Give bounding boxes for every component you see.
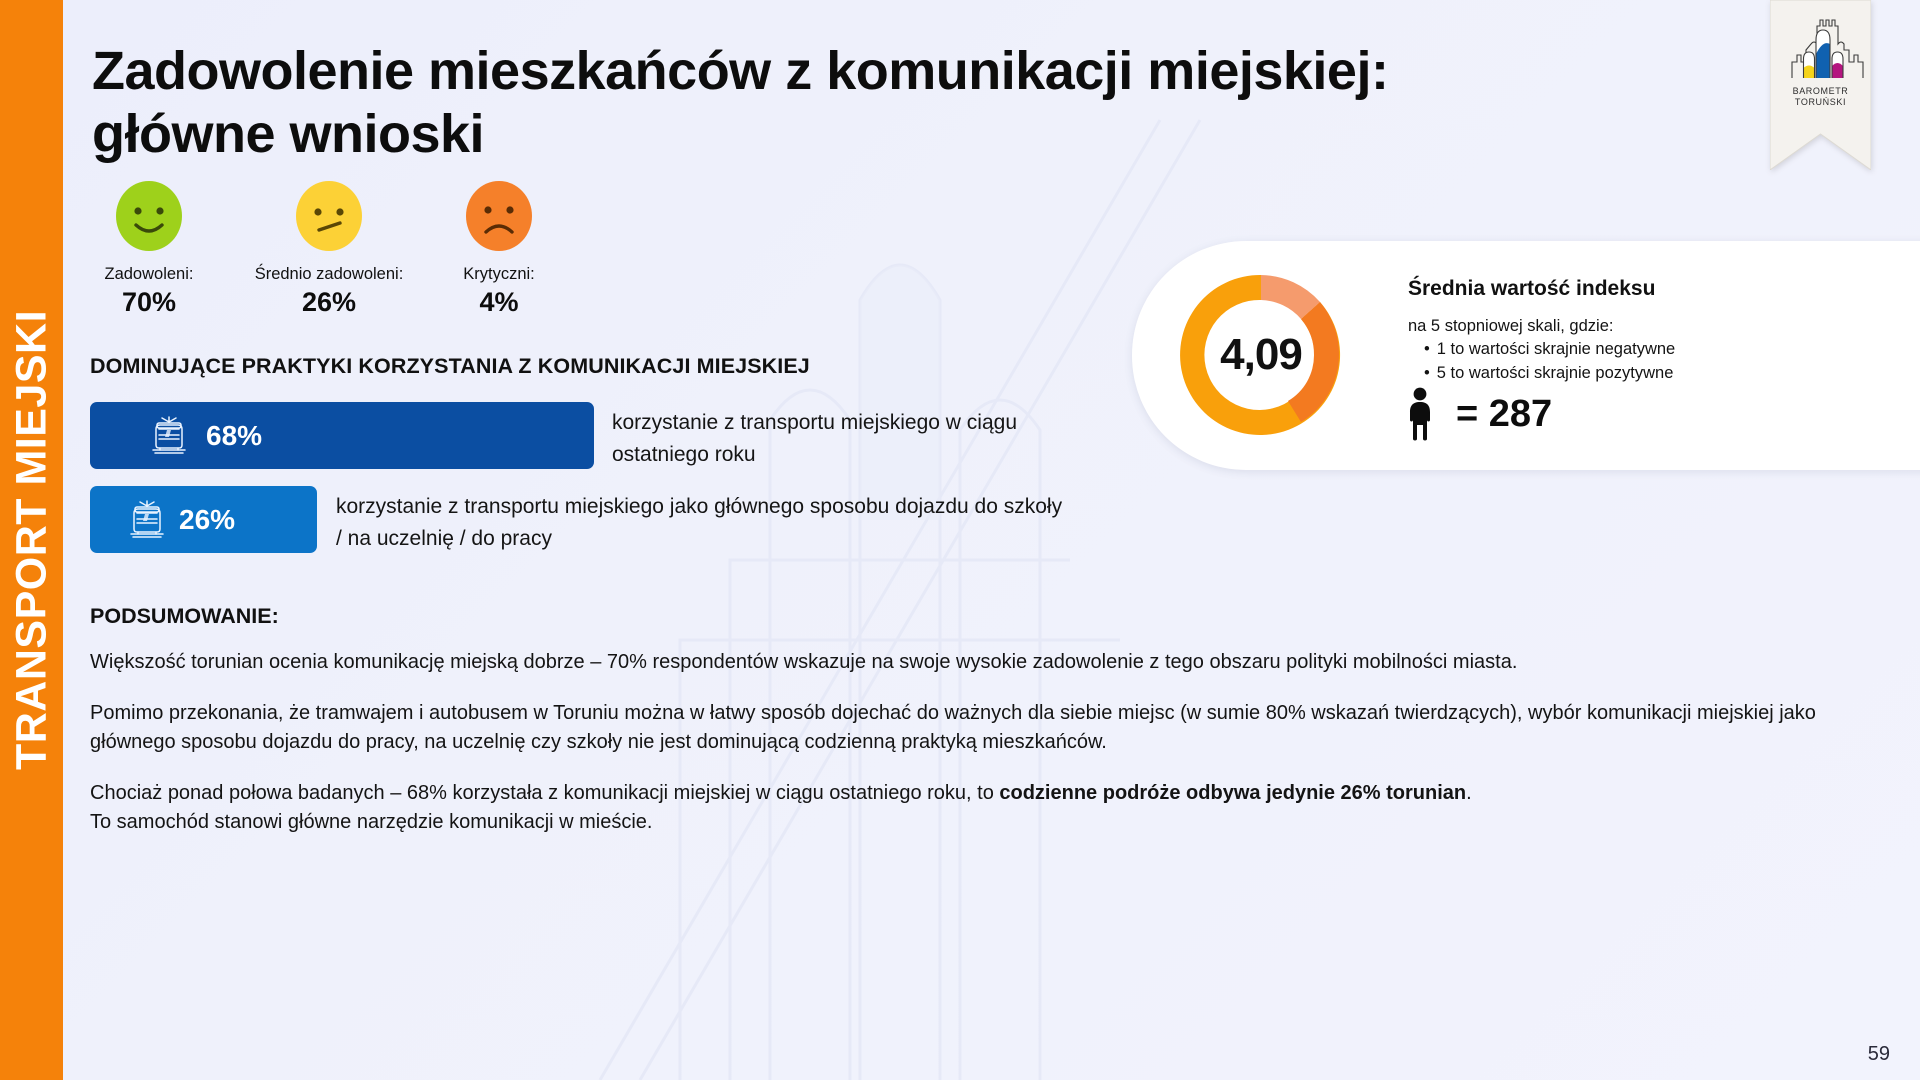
sample-size-value: = 287 [1456,393,1552,436]
practices-heading: DOMINUJĄCE PRAKTYKI KORZYSTANIA Z KOMUNI… [90,354,810,379]
logo-line-1: BAROMETR [1793,86,1849,96]
practice-percent: 26% [179,504,235,536]
summary-p3-part2: . [1466,782,1472,804]
practice-bar-68: 68% [90,402,594,469]
index-card: 4,09 Średnia wartość indeksu na 5 stopni… [1132,241,1920,470]
index-card-title: Średnia wartość indeksu [1408,277,1655,301]
satisfaction-label: Krytyczni: [399,264,599,285]
summary-p3-part1: Chociaż ponad połowa badanych – 68% korz… [90,782,999,804]
summary-paragraph-1: Większość torunian ocenia komunikację mi… [90,648,1850,677]
summary-paragraph-3: Chociaż ponad połowa badanych – 68% korz… [90,779,1850,837]
barometr-torunski-logo: BAROMETR TORUŃSKI [1770,0,1871,170]
logo-line-2: TORUŃSKI [1795,97,1846,107]
summary-body: Większość torunian ocenia komunikację mi… [90,648,1850,859]
index-card-scale: na 5 stopniowej skali, gdzie: 1 to warto… [1408,315,1675,385]
scale-point-2: 5 to wartości skrajnie pozytywne [1424,362,1675,385]
page-number: 59 [1868,1043,1890,1066]
scale-intro: na 5 stopniowej skali, gdzie: [1408,315,1675,338]
satisfaction-value: 70% [49,287,249,318]
satisfaction-label: Zadowoleni: [49,264,249,285]
summary-paragraph-2: Pomimo przekonania, że tramwajem i autob… [90,699,1850,757]
practice-note: korzystanie z transportu miejskiego jako… [336,491,1356,554]
sad-face-icon [465,180,533,252]
neutral-face-icon [295,180,363,252]
sidebar-rail-label: TRANSPORT MIEJSKI [7,310,56,770]
scale-point-1: 1 to wartości skrajnie negatywne [1424,338,1675,361]
tram-icon [125,499,169,541]
person-icon [1406,387,1434,441]
index-gauge-value: 4,09 [1168,262,1354,448]
index-gauge: 4,09 [1168,262,1354,448]
satisfaction-item-zadowoleni: Zadowoleni: 70% [49,180,249,318]
practice-bar-26: 26% [90,486,317,553]
page-title: Zadowolenie mieszkańców z komunikacji mi… [92,40,1412,165]
satisfaction-item-krytyczni: Krytyczni: 4% [399,180,599,318]
sample-size-row: = 287 [1406,387,1552,441]
satisfaction-value: 4% [399,287,599,318]
sidebar-rail: TRANSPORT MIEJSKI [0,0,63,1080]
summary-p3-line2: To samochód stanowi główne narzędzie kom… [90,811,652,833]
summary-heading: PODSUMOWANIE: [90,604,279,629]
summary-p3-bold: codzienne podróże odbywa jedynie 26% tor… [999,782,1466,804]
practice-percent: 68% [206,420,262,452]
tram-icon [147,415,191,457]
slide-root: TRANSPORT MIEJSKI Zadowolenie mieszkańcó… [0,0,1920,1080]
happy-face-icon [115,180,183,252]
